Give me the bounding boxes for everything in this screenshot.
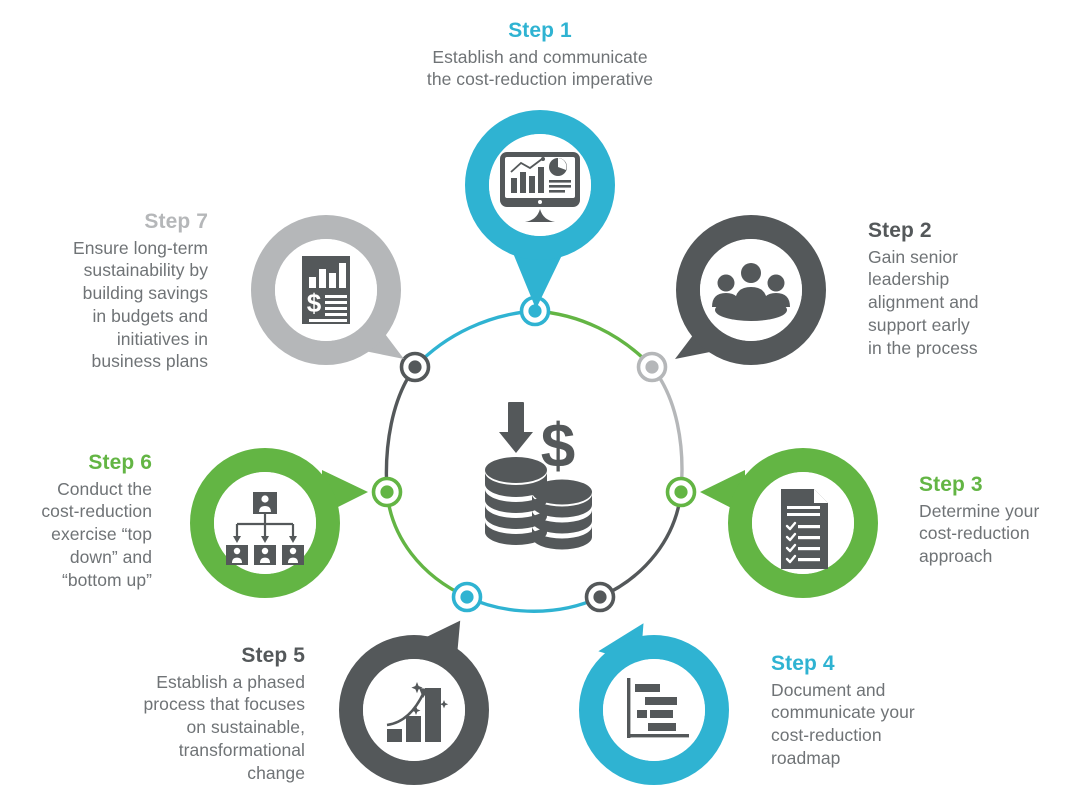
step-1-title: Step 1 [349, 18, 731, 44]
arc-step1-to-step7 [415, 311, 535, 367]
node-step2[interactable] [639, 354, 666, 381]
arc-step3-to-step2 [652, 367, 682, 492]
step-7-bubble[interactable]: $ [263, 227, 404, 359]
step-1-bubble-tail [513, 253, 563, 309]
checklist-document-icon [781, 489, 828, 569]
step-5-body: Establish a phased process that focuses … [110, 671, 305, 785]
step-5-title: Step 5 [110, 643, 305, 669]
arc-step7-to-step6 [386, 367, 415, 492]
svg-text:$: $ [541, 412, 575, 481]
step-4-title: Step 4 [771, 651, 971, 677]
step-2-title: Step 2 [868, 218, 1073, 244]
coins-down-arrow-dollar-icon: $ [485, 402, 592, 550]
step-2-callout: Step 2 Gain senior leadership alignment … [868, 218, 1073, 359]
step-2-body: Gain senior leadership alignment and sup… [868, 246, 1073, 360]
infographic-canvas: $ [0, 0, 1080, 812]
arc-step6-to-step5 [387, 492, 467, 597]
step-3-body: Determine your cost-reduction approach [919, 500, 1079, 568]
step-7-title: Step 7 [8, 209, 208, 235]
step-4-body: Document and communicate your cost-reduc… [771, 679, 971, 770]
arc-step4-to-step3 [600, 492, 681, 597]
step-3-bubble[interactable] [700, 460, 866, 586]
node-step7[interactable] [402, 354, 429, 381]
node-step6[interactable] [374, 479, 401, 506]
step-5-bubble[interactable] [351, 612, 477, 773]
step-1-bubble[interactable] [477, 122, 603, 309]
step-6-body: Conduct the cost-reduction exercise “top… [20, 478, 152, 592]
step-7-body: Ensure long-term sustainability by build… [8, 237, 208, 374]
arc-step2-to-step1 [535, 311, 652, 367]
svg-text:$: $ [307, 288, 322, 318]
step-4-callout: Step 4 Document and communicate your cos… [771, 651, 971, 770]
step-1-callout: Step 1 Establish and communicate the cos… [349, 18, 731, 91]
node-step5[interactable] [454, 584, 481, 611]
arc-step5-to-step4 [467, 597, 600, 611]
step-4-bubble[interactable] [591, 613, 717, 773]
node-step4[interactable] [587, 584, 614, 611]
financial-report-icon: $ [302, 256, 350, 324]
step-1-body: Establish and communicate the cost-reduc… [349, 46, 731, 92]
node-step3[interactable] [668, 479, 695, 506]
step-7-callout: Step 7 Ensure long-term sustainability b… [8, 209, 208, 373]
step-2-bubble[interactable] [675, 227, 814, 359]
step-6-title: Step 6 [20, 450, 152, 476]
step-3-callout: Step 3 Determine your cost-reduction app… [919, 472, 1079, 568]
step-6-bubble[interactable] [202, 460, 368, 586]
step-5-callout: Step 5 Establish a phased process that f… [110, 643, 305, 784]
step-6-callout: Step 6 Conduct the cost-reduction exerci… [20, 450, 152, 591]
step-3-title: Step 3 [919, 472, 1079, 498]
